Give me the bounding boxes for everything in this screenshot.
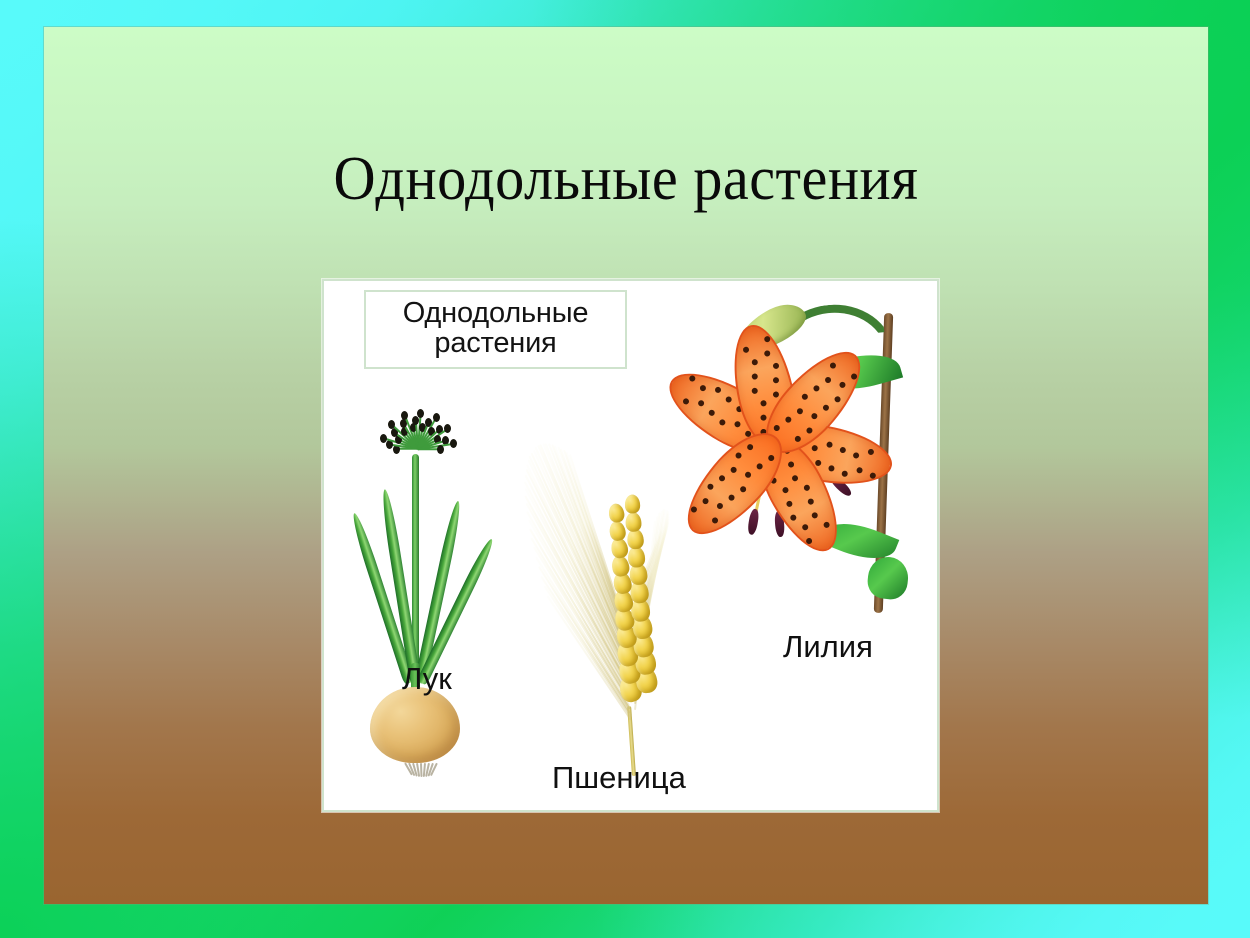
lily-spot	[785, 500, 793, 508]
wheat-grain	[627, 529, 644, 550]
onion-bulb	[370, 687, 460, 763]
lily-spot	[699, 384, 707, 392]
lily-spot	[801, 393, 809, 401]
tiger-lily-icon	[672, 289, 922, 619]
lily-spot	[751, 387, 758, 394]
lily-spot	[767, 454, 775, 462]
lily-spot	[781, 486, 789, 494]
lily-spot	[869, 472, 876, 479]
lily-spot	[755, 462, 763, 470]
lily-spot	[805, 537, 813, 545]
lily-spot	[697, 399, 705, 407]
lily-spot	[764, 350, 771, 357]
lily-spot	[815, 460, 822, 467]
lily-spot	[718, 418, 726, 426]
onion-floret	[417, 409, 424, 418]
lily-spot	[751, 373, 758, 380]
lily-spot	[688, 374, 696, 382]
lily-spot	[812, 384, 820, 392]
caption-line-2: растения	[366, 328, 625, 358]
lily-spot	[739, 485, 747, 493]
lily-spot	[733, 420, 741, 428]
lily-spot	[734, 451, 742, 459]
lily-spot	[811, 511, 819, 519]
lily-spot	[803, 484, 811, 492]
onion-plant-icon	[352, 399, 492, 779]
lily-spot	[760, 400, 767, 407]
lily-spot	[856, 467, 863, 474]
illustration-caption: Однодольные растения	[364, 290, 627, 369]
lily-spot	[714, 386, 722, 394]
lily-spot	[784, 415, 792, 423]
lily-spot	[794, 435, 802, 443]
lily-spot	[801, 523, 809, 531]
lily-spot	[807, 498, 815, 506]
wheat-grain	[626, 512, 643, 532]
wheat-grain	[607, 502, 625, 523]
lily-spot	[764, 336, 771, 343]
lily-spot	[867, 448, 874, 455]
lily-spot	[796, 407, 804, 415]
illustration-panel: Однодольные растения Лук Пшеница	[322, 279, 939, 812]
slide-canvas: Однодольные растения Однодольные растени…	[44, 27, 1208, 904]
lily-spot	[772, 391, 779, 398]
plant-label-onion: Лук	[402, 661, 452, 697]
lily-spot	[711, 516, 719, 524]
lily-spot	[727, 493, 735, 501]
lily-spot	[841, 470, 848, 477]
lily-spot	[824, 376, 832, 384]
lily-spot	[839, 447, 846, 454]
lily-spot	[826, 441, 833, 448]
lily-spot	[708, 409, 716, 417]
lily-spot	[829, 361, 837, 369]
lily-spot	[791, 474, 799, 482]
onion-roots	[404, 759, 438, 777]
lily-spot	[838, 381, 846, 389]
lily-spot	[744, 471, 752, 479]
onion-floret	[444, 424, 451, 433]
lily-leaf	[866, 555, 910, 601]
lily-spot	[729, 466, 737, 474]
onion-floret	[437, 445, 444, 454]
onion-floret	[401, 411, 408, 420]
onion-root	[420, 763, 422, 777]
wheat-grain	[608, 520, 627, 542]
lily-spot	[772, 377, 779, 384]
plant-label-lily: Лилия	[783, 629, 873, 665]
lily-spot	[805, 426, 813, 434]
lily-spot	[742, 346, 749, 353]
lily-spot	[682, 397, 690, 405]
lily-spot	[690, 505, 698, 513]
lily-spot	[822, 403, 830, 411]
plant-label-wheat: Пшеница	[552, 760, 686, 796]
lily-spot	[701, 497, 709, 505]
lily-spot	[773, 424, 781, 432]
lily-spot	[718, 474, 726, 482]
wheat-grain	[625, 494, 641, 513]
lily-spot	[716, 502, 724, 510]
page-title: Однодольные растения	[79, 145, 1173, 213]
lily-spot	[850, 372, 858, 380]
lily-anther	[747, 509, 760, 536]
lily-spot	[853, 452, 860, 459]
lily-spot	[811, 445, 818, 452]
slide-stage: Однодольные растения Однодольные растени…	[0, 0, 1250, 938]
caption-line-1: Однодольные	[366, 298, 625, 328]
lily-spot	[746, 443, 754, 451]
lily-spot	[706, 482, 714, 490]
lily-spot	[725, 395, 733, 403]
lily-spot	[789, 514, 797, 522]
lily-spot	[833, 395, 841, 403]
wheat-grain	[628, 546, 646, 568]
onion-floret	[450, 439, 457, 448]
onion-floret	[433, 413, 440, 422]
lily-spot	[810, 412, 818, 420]
lily-spot	[828, 465, 835, 472]
lily-spot	[751, 359, 758, 366]
lily-spot	[772, 362, 779, 369]
onion-floret	[380, 434, 387, 443]
lily-spot	[823, 521, 831, 529]
